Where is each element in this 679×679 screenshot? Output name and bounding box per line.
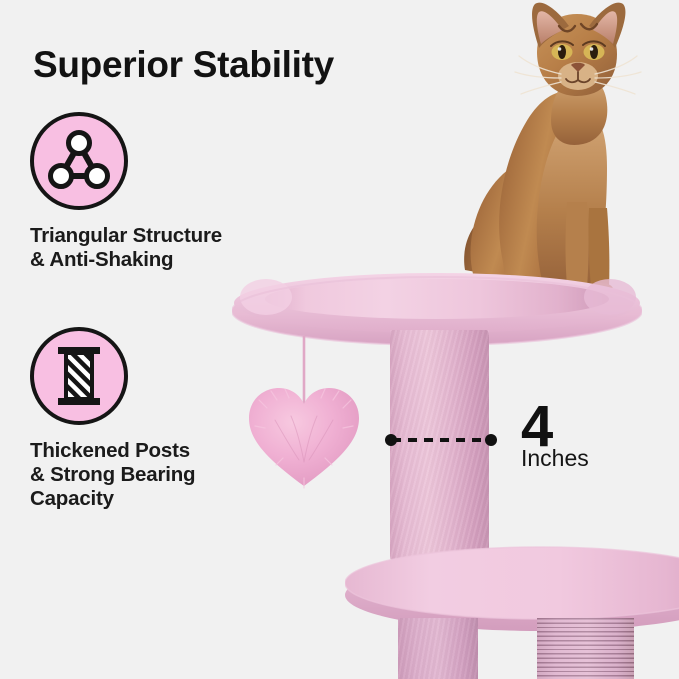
feature-triangular-structure: Triangular Structure & Anti-Shaking [30, 112, 280, 272]
lower-plush-post [398, 618, 478, 679]
top-plush-platform [232, 271, 642, 347]
triangular-structure-badge [30, 112, 128, 210]
feature-posts-label-line1: Thickened Posts [30, 439, 280, 463]
thickened-post-badge [30, 327, 128, 425]
abyssinian-cat [455, 2, 645, 294]
feature-triangular-label-line2: & Anti-Shaking [30, 248, 280, 272]
feature-triangular-label-line1: Triangular Structure [30, 224, 280, 248]
feature-posts-label-line2: & Strong Bearing [30, 463, 280, 487]
dimension-unit: Inches [521, 447, 589, 470]
page-title: Superior Stability [33, 44, 334, 86]
feature-posts-label: Thickened Posts & Strong Bearing Capacit… [30, 439, 280, 512]
sisal-scratching-post [537, 618, 634, 679]
lower-plush-platform [345, 543, 679, 635]
product-feature-image: Superior Stability Triangular Structure … [0, 0, 679, 679]
feature-posts-label-line3: Capacity [30, 487, 280, 511]
triangular-structure-icon [34, 116, 124, 206]
post-width-dimension-line [385, 433, 497, 447]
feature-thickened-posts: Thickened Posts & Strong Bearing Capacit… [30, 327, 280, 512]
thickened-post-icon [34, 331, 124, 421]
feature-triangular-label: Triangular Structure & Anti-Shaking [30, 224, 280, 272]
